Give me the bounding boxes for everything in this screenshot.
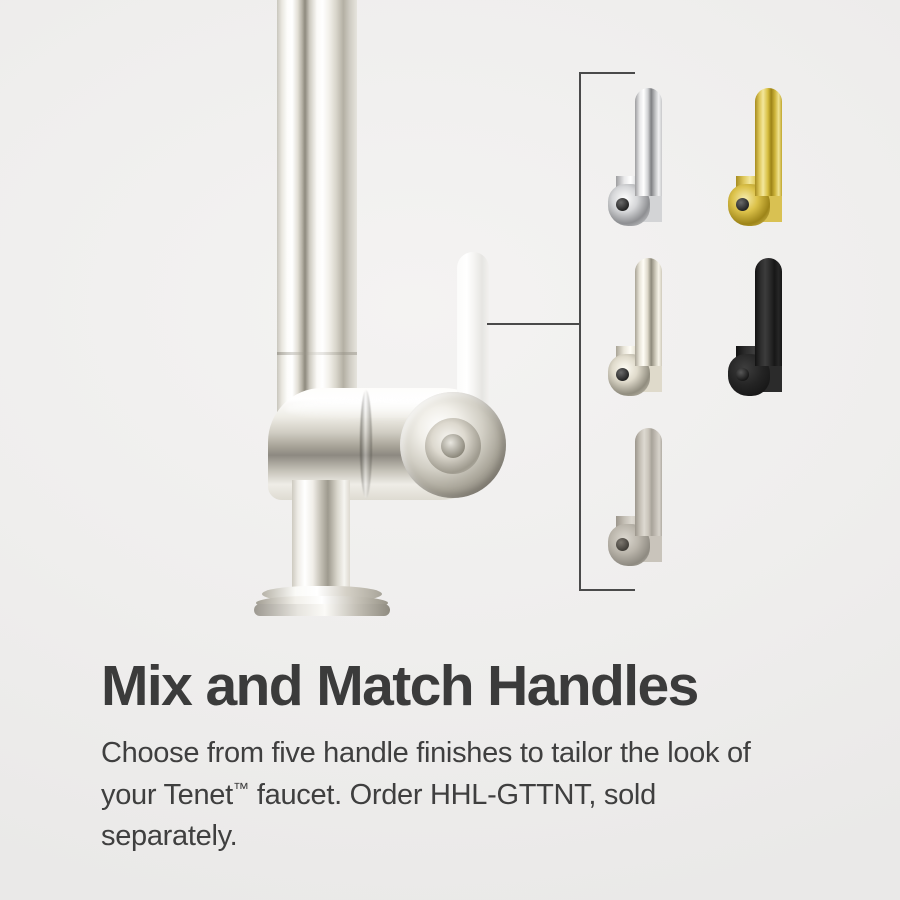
handle-setscrew-icon-nickel [616, 368, 629, 381]
bracket-arm-middle [487, 323, 580, 325]
handle-option-brass[interactable] [728, 88, 810, 238]
handle-stem-chrome [635, 88, 662, 196]
handle-stem-nickel [635, 258, 662, 366]
handle-option-satin[interactable] [608, 428, 690, 578]
handle-stem-brass [755, 88, 782, 196]
handle-option-chrome[interactable] [608, 88, 690, 238]
handle-stem-black [755, 258, 782, 366]
bracket-spine [579, 72, 581, 590]
handle-stem-satin [635, 428, 662, 536]
bracket-arm-bottom [579, 589, 635, 591]
bracket-arm-top [579, 72, 635, 74]
copy-block: Mix and Match Handles Choose from five h… [0, 655, 900, 858]
handle-option-black[interactable] [728, 258, 810, 408]
body-copy: Choose from five handle finishes to tail… [101, 733, 791, 858]
handle-option-nickel[interactable] [608, 258, 690, 408]
handle-setscrew-icon-satin [616, 538, 629, 551]
product-marketing-slide: Mix and Match Handles Choose from five h… [0, 0, 900, 900]
trademark-icon: ™ [233, 780, 249, 798]
handle-setscrew-icon-chrome [616, 198, 629, 211]
handle-setscrew-icon-black [736, 368, 749, 381]
page-title: Mix and Match Handles [101, 655, 900, 719]
handle-setscrew-icon-brass [736, 198, 749, 211]
